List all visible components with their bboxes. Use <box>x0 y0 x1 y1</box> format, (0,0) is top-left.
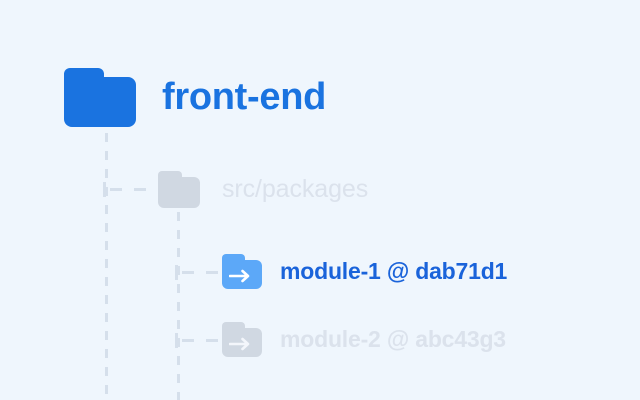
arrow-right-icon <box>229 337 255 351</box>
tree-node-module-1[interactable]: module-1 @ dab71d1 <box>222 254 507 289</box>
folder-icon <box>158 171 200 208</box>
tree-node-front-end[interactable]: front-end <box>64 68 326 127</box>
folder-submodule-arrow-icon <box>222 254 262 289</box>
arrow-right-icon <box>229 269 255 283</box>
file-tree-diagram: front-end src/packages module-1 @ dab71d… <box>0 0 640 400</box>
tree-guide-tick-src <box>103 182 106 197</box>
tree-guide-vertical-root <box>105 133 108 400</box>
tree-guide-horizontal-src <box>110 188 156 191</box>
tree-node-module-2[interactable]: module-2 @ abc43g3 <box>222 322 506 357</box>
tree-guide-horizontal-module-1 <box>182 271 224 274</box>
folder-icon <box>64 68 136 127</box>
tree-node-src-packages[interactable]: src/packages <box>158 171 368 208</box>
tree-node-label: module-2 @ abc43g3 <box>280 326 506 353</box>
tree-guide-horizontal-module-2 <box>182 339 224 342</box>
tree-guide-vertical-src <box>177 212 180 400</box>
tree-guide-tick-module-2 <box>175 333 178 348</box>
tree-node-label: src/packages <box>222 175 368 204</box>
tree-node-label: module-1 @ dab71d1 <box>280 258 507 285</box>
tree-node-label: front-end <box>162 76 326 119</box>
tree-guide-tick-module-1 <box>175 265 178 280</box>
folder-submodule-arrow-icon <box>222 322 262 357</box>
